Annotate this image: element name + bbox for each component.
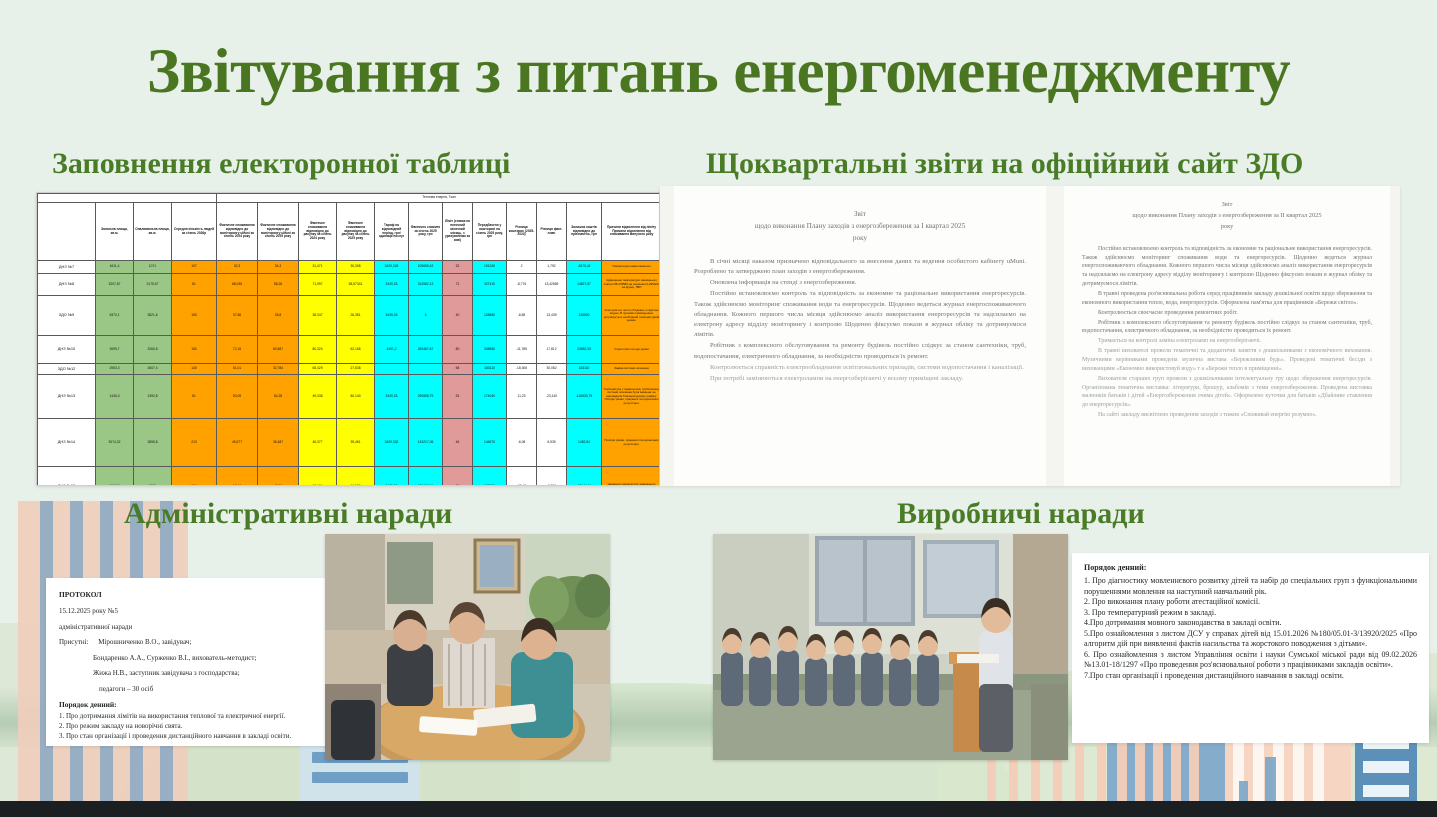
table-cell[interactable]: 3207,87 (96, 274, 134, 296)
table-cell[interactable]: 213 (172, 419, 217, 467)
table-cell[interactable]: 101240 (473, 261, 507, 274)
table-cell[interactable]: 38,347 (299, 296, 337, 336)
column-header[interactable]: Загальна площа, кв.м. (96, 203, 134, 261)
table-cell[interactable]: 2953,3 (96, 364, 134, 375)
table-cell[interactable]: 3821,6 (134, 296, 172, 336)
protocol-present-label: Присутні: Мірошниченко В.О., завідувач; (59, 637, 320, 648)
table-cell[interactable]: Температура у підвальному трубопроводі с… (602, 375, 661, 419)
column-header[interactable]: Передбачено у кошторисі на січень 2025 р… (473, 203, 507, 261)
table-cell[interactable]: -8375,42 (567, 261, 602, 274)
table-cell[interactable]: Температура навколишнього (602, 261, 661, 274)
quarterly-reports-panel[interactable]: Звіт щодо виконання Плану заходів з енер… (660, 186, 1400, 486)
agenda-item: 4.Про дотримання мовного законодавства в… (1084, 618, 1417, 629)
table-cell[interactable]: 6,539 (537, 419, 567, 467)
table-cell[interactable]: 26,381 (337, 296, 375, 336)
column-header[interactable]: Опалювальна площа, кв.м. (134, 203, 172, 261)
table-cell[interactable]: -33446,11 (567, 467, 602, 487)
table-cell[interactable]: 11,23 (507, 375, 537, 419)
table-cell[interactable]: 23582,33 (567, 336, 602, 364)
table-cell[interactable]: 1452,84 (567, 419, 602, 467)
table-cell[interactable]: 58,26 (258, 274, 299, 296)
section-heading-production-meetings: Виробничі наради (897, 497, 1145, 531)
table-cell[interactable]: 183110 (567, 364, 602, 375)
table-cell[interactable]: 3439,328 (375, 261, 409, 274)
protocol-present-2: Бондаренко А.А., Сурженко В.І., виховате… (59, 653, 320, 664)
protocol-agenda-item: 2. Про режим закладу на новорічні свята. (59, 722, 320, 732)
report-paragraph: Робітник з комплексного обслуговування т… (1082, 319, 1372, 337)
table-cell[interactable]: Похмурі умови, працюючі погодозалежні ре… (602, 419, 661, 467)
table-cell[interactable]: 51,01 (217, 364, 258, 375)
protocol-present-first: Мірошниченко В.О., завідувач; (90, 638, 191, 646)
table-cell[interactable]: 107 (172, 261, 217, 274)
page-title: Звітування з питань енергоменеджменту (0, 38, 1437, 105)
table-cell[interactable]: 2607,4 (134, 364, 172, 375)
table-row[interactable]: ДНЗ №143074,322855,821345,57738,48745,37… (38, 419, 661, 467)
row-label[interactable]: ДНЗ №8 (38, 274, 96, 296)
table-cell[interactable]: 134 (172, 467, 217, 487)
table-cell[interactable]: 30,062 (537, 364, 567, 375)
agenda-item: 6. Про ознайомлення з листом Управління … (1084, 650, 1417, 671)
protocol-present-3: Жижа Н.В., заступник завідувача з господ… (59, 668, 320, 679)
photo-production-meeting[interactable] (713, 534, 1068, 760)
table-cell[interactable]: -8,89 (507, 296, 537, 336)
report-q2-title: Звіт щодо виконання Плану заходів з енер… (1082, 200, 1372, 233)
table-row[interactable]: ДНЗ №102699,72260,818072,1560,58780,3246… (38, 336, 661, 364)
table-cell[interactable]: 58,57341 (337, 274, 375, 296)
column-header[interactable]: Ліміт (ставка на поточний місячний місяц… (443, 203, 473, 261)
table-band-row: Теплова енергія, Гкал (38, 194, 661, 203)
table-cell[interactable]: 30,308 (337, 261, 375, 274)
table-cell[interactable]: 71,997 (299, 274, 337, 296)
table-cell[interactable]: 3439,33 (375, 467, 409, 487)
agenda-item: 3. Про температурний режим в закладі. (1084, 608, 1417, 619)
photo-admin-meeting[interactable] (325, 534, 610, 760)
table-header-row: Загальна площа, кв.м.Опалювальна площа, … (38, 203, 661, 261)
table-cell[interactable]: 221068,11 (409, 467, 443, 487)
table-cell[interactable]: 128850 (473, 296, 507, 336)
table-cell[interactable]: 68,036 (217, 274, 258, 296)
table-cell[interactable]: 13,439 (537, 296, 567, 336)
table-cell[interactable] (375, 364, 409, 375)
table-cell[interactable]: 1611,4 (96, 261, 134, 274)
report-q1-body: В січні місяці наказом призначено відпов… (694, 257, 1026, 385)
table-cell[interactable]: 290858,79 (409, 375, 443, 419)
agenda-item: 1. Про діагностику мовленнєвого розвитку… (1084, 576, 1417, 597)
table-cell[interactable]: 53 (443, 375, 473, 419)
table-cell[interactable]: 4451,2 (375, 336, 409, 364)
photo-admin-illustration (325, 534, 610, 760)
spreadsheet-screenshot[interactable]: Теплова енергія, ГкалЗагальна площа, кв.… (36, 192, 660, 486)
table-cell[interactable]: 32 (443, 261, 473, 274)
table-cell[interactable]: 1960,2 (96, 467, 134, 487)
column-header[interactable]: Фактично спожито за січень 2025 року, гр… (409, 203, 443, 261)
report-document-q1[interactable]: Звіт щодо виконання Плану заходів з енер… (674, 186, 1046, 486)
row-label[interactable]: ДНЗ №7 (38, 261, 96, 274)
table-cell[interactable]: 40 (443, 296, 473, 336)
table-cell[interactable]: 80,140 (337, 375, 375, 419)
table-cell[interactable]: 28,8 (258, 296, 299, 336)
table-cell[interactable]: 128850 (567, 296, 602, 336)
table-cell[interactable]: 283487,67 (409, 336, 443, 364)
table-cell[interactable]: 2855,8 (134, 419, 172, 467)
protocol-kind: адміністративної наради (59, 622, 320, 633)
row-label[interactable]: ЗДО №12 (38, 364, 96, 375)
table-cell[interactable]: 174040 (473, 375, 507, 419)
report-paragraph: В травні вихователі провели тематичні та… (1082, 347, 1372, 374)
protocol-agenda-label: Порядок денний: (59, 700, 320, 709)
row-label[interactable]: ДНЗ №10 (38, 336, 96, 364)
energy-consumption-table: Теплова енергія, ГкалЗагальна площа, кв.… (37, 193, 660, 486)
table-cell[interactable]: 62,64 (217, 467, 258, 487)
table-cell[interactable]: 3439,33 (375, 296, 409, 336)
agenda-heading: Порядок денний: (1084, 563, 1417, 572)
report-paragraph: При потребі замінюються електролампи на … (694, 374, 1026, 384)
agenda-item-list: 1. Про діагностику мовленнєвого розвитку… (1084, 576, 1417, 681)
table-cell[interactable]: 42,21 (258, 467, 299, 487)
table-cell[interactable]: Кошторис на тепло об'єднано з гарячою во… (602, 296, 661, 336)
table-cell[interactable]: 39,461 (337, 419, 375, 467)
table-cell[interactable]: 180 (172, 336, 217, 364)
report-paragraph: Постійно встановлюємо контроль та відпов… (1082, 245, 1372, 289)
table-cell[interactable]: 46 (443, 419, 473, 467)
table-cell[interactable]: 143217,06 (409, 419, 443, 467)
table-cell[interactable]: 3439,33 (375, 274, 409, 296)
column-header[interactable] (38, 203, 96, 261)
agenda-item: 2. Про виконання плану роботи атестаційн… (1084, 597, 1417, 608)
band-spacer (38, 194, 217, 203)
table-cell[interactable]: 3175,57 (134, 274, 172, 296)
report-q2-body: Постійно встановлюємо контроль та відпов… (1082, 245, 1372, 420)
table-cell[interactable]: 80 (443, 336, 473, 364)
table-row[interactable]: ДНЗ №71611,4107110732,334,331,47130,3083… (38, 261, 661, 274)
protocol-heading: ПРОТОКОЛ (59, 590, 320, 599)
table-cell[interactable]: 60,587 (258, 336, 299, 364)
table-cell[interactable]: 109655,42 (409, 261, 443, 274)
table-cell[interactable]: -18,306 (507, 364, 537, 375)
table-cell[interactable]: 49,338 (299, 375, 337, 419)
table-cell[interactable]: 80 (443, 467, 473, 487)
table-cell[interactable]: 1071 (134, 261, 172, 274)
protocol-date: 15.12.2025 року №5 (59, 606, 320, 617)
agenda-document[interactable]: Порядок денний: 1. Про діагностику мовле… (1072, 553, 1429, 743)
table-cell[interactable]: -11,785 (507, 336, 537, 364)
report-paragraph: На сайті закладу висвітлено проведення з… (1082, 411, 1372, 420)
table-cell[interactable]: 1392,8 (134, 375, 172, 419)
table-cell[interactable]: 144670 (473, 419, 507, 467)
protocol-present-4: педагоги – 30 осіб (59, 684, 320, 695)
table-cell[interactable]: 32,784 (258, 364, 299, 375)
table-cell[interactable]: 17,812 (537, 336, 567, 364)
report-paragraph: Оновлена інформація на стенді з енергозб… (694, 278, 1026, 288)
table-cell[interactable]: 53,05 (217, 375, 258, 419)
table-cell[interactable]: -8,776 (507, 274, 537, 296)
table-cell[interactable]: 34,3 (258, 261, 299, 274)
report-paragraph: В травні проведена роз'яснювальна робота… (1082, 290, 1372, 308)
report-paragraph: Контролюється своєчасне проведення ремон… (1082, 309, 1372, 318)
table-cell[interactable]: 72,15 (217, 336, 258, 364)
table-cell[interactable]: 65,429 (299, 364, 337, 375)
column-header[interactable]: Середня кількість людей за січень 2026р (172, 203, 217, 261)
protocol-agenda-item: 3. Про стан організації і проведення дис… (59, 732, 320, 742)
table-cell[interactable]: 3439,332 (375, 419, 409, 467)
table-cell[interactable]: 2699,7 (96, 336, 134, 364)
agenda-item: 5.Про ознайомлення з листом ДСУ у справа… (1084, 629, 1417, 650)
table-cell[interactable]: 183110 (473, 364, 507, 375)
table-cell[interactable]: 5370,1 (96, 296, 134, 336)
table-row[interactable]: ДНЗ №151960,2192013462,6442,2165,15160,9… (38, 467, 661, 487)
table-cell[interactable]: 189720 (473, 467, 507, 487)
table-cell[interactable]: 3 (409, 296, 443, 336)
column-header[interactable]: Залишок коштів відповідно до призначень,… (567, 203, 602, 261)
table-cell[interactable]: 62,168 (337, 336, 375, 364)
table-cell[interactable]: Сприятливі погодні умови (602, 336, 661, 364)
report-paragraph: Тримається на контролі заміна електролам… (1082, 337, 1372, 346)
photo-production-illustration (713, 534, 1068, 760)
row-label[interactable]: ЗДО №9 (38, 296, 96, 336)
report-paragraph: Вихователя старших груп провели з дошкіл… (1082, 375, 1372, 410)
protocol-agenda-item: 1. Про дотримання лімітів на використанн… (59, 712, 320, 722)
table-cell[interactable]: 1920 (134, 467, 172, 487)
report-paragraph: Контролюється справність електрообладнан… (694, 363, 1026, 373)
section-heading-reports: Щоквартальні звіти на офіційний сайт ЗДО (706, 147, 1303, 181)
section-heading-admin-meetings: Адміністративні наради (124, 497, 452, 531)
column-header[interactable]: Різниця факт-план (537, 203, 567, 261)
column-header[interactable]: Тариф на відповідний період, грн/одиниця… (375, 203, 409, 261)
row-label[interactable]: ДНЗ №15 (38, 467, 96, 487)
table-cell[interactable]: 13,42659 (537, 274, 567, 296)
column-header[interactable]: Фактичне споживання відповідно до моніто… (217, 203, 258, 261)
report-q1-title: Звіт щодо виконання Плану заходів з енер… (694, 208, 1026, 245)
table-cell[interactable]: 45,377 (299, 419, 337, 467)
row-label[interactable]: ДНЗ №13 (38, 375, 96, 419)
table-cell[interactable]: 45,577 (217, 419, 258, 467)
report-paragraph: Постійно встановлюємо контроль та відпов… (694, 289, 1026, 340)
table-cell[interactable]: 38,487 (258, 419, 299, 467)
row-label[interactable]: ДНЗ №14 (38, 419, 96, 467)
table-cell[interactable]: 64,28 (258, 375, 299, 419)
table-cell[interactable]: 31,471 (299, 261, 337, 274)
table-cell[interactable]: 81 (172, 274, 217, 296)
table-cell[interactable]: Заміна системи опалення (602, 364, 661, 375)
table-cell[interactable]: 312582,13 (409, 274, 443, 296)
table-cell[interactable]: -116833,79 (567, 375, 602, 419)
table-cell[interactable]: -20,43 (507, 467, 537, 487)
bottom-bar (0, 801, 1437, 817)
table-cell[interactable]: 308850 (473, 336, 507, 364)
agenda-item: 7.Про стан організації і проведення дист… (1084, 671, 1417, 682)
table-row[interactable]: ЗДО №95370,13821,615037,8828,838,34726,3… (38, 296, 661, 336)
table-cell[interactable]: 3439,33 (375, 375, 409, 419)
table-row[interactable]: ДНЗ №83207,873175,578168,03658,2671,9975… (38, 274, 661, 296)
report-paragraph: Робітник з комплексного обслуговування т… (694, 341, 1026, 361)
section-heading-spreadsheet: Заповнення електоронної таблиці (52, 147, 510, 181)
table-cell[interactable]: 80,324 (299, 336, 337, 364)
table-cell[interactable]: 2 (507, 261, 537, 274)
table-cell[interactable]: 37,88 (217, 296, 258, 336)
band-label: Теплова енергія, Гкал (217, 194, 661, 203)
table-cell[interactable]: 58 (443, 364, 473, 375)
table-row[interactable]: ЗДО №122953,32607,414051,0132,78465,4292… (38, 364, 661, 375)
report-paragraph: В січні місяці наказом призначено відпов… (694, 257, 1026, 277)
column-header[interactable]: Фактичне споживання відповідно до моніто… (258, 203, 299, 261)
table-cell[interactable]: 150 (172, 296, 217, 336)
table-cell[interactable]: 32,3 (217, 261, 258, 274)
table-cell[interactable]: 140 (172, 364, 217, 375)
table-cell[interactable]: 65,151 (299, 467, 337, 487)
table-cell[interactable]: -6,08 (507, 419, 537, 467)
table-cell[interactable]: підвищення температури зовнішнього повіт… (602, 274, 661, 296)
table-cell[interactable]: -23,140 (537, 375, 567, 419)
column-header[interactable]: Фактичне споживання відповідно до рахунк… (337, 203, 375, 261)
table-cell[interactable]: зниження температури зовнішнього повітря (602, 467, 661, 487)
protocol-document[interactable]: ПРОТОКОЛ 15.12.2025 року №5 адміністрати… (46, 578, 333, 746)
table-cell[interactable]: 14827,87 (567, 274, 602, 296)
table-cell[interactable]: 72 (443, 274, 473, 296)
table-cell[interactable]: 3074,32 (96, 419, 134, 467)
column-header[interactable]: Фактичне споживання відповідно до рахунк… (299, 203, 337, 261)
table-cell[interactable]: 1,792 (537, 261, 567, 274)
table-cell[interactable]: -8,930 (537, 467, 567, 487)
table-cell[interactable]: 2260,8 (134, 336, 172, 364)
table-cell[interactable] (409, 364, 443, 375)
table-cell[interactable]: 27,838 (337, 364, 375, 375)
report-document-q2[interactable]: Звіт щодо виконання Плану заходів з енер… (1064, 186, 1390, 486)
table-cell[interactable]: 81 (172, 375, 217, 419)
column-header[interactable]: Різниця кошторис (2025-2024) (507, 203, 537, 261)
table-cell[interactable]: 327410 (473, 274, 507, 296)
column-header[interactable]: Причини відхилення від ліміту Причини ві… (602, 203, 661, 261)
table-cell[interactable]: 1445,3 (96, 375, 134, 419)
table-cell[interactable]: 60,958 (337, 467, 375, 487)
table-row[interactable]: ДНЗ №131445,31392,88153,0564,2849,33880,… (38, 375, 661, 419)
